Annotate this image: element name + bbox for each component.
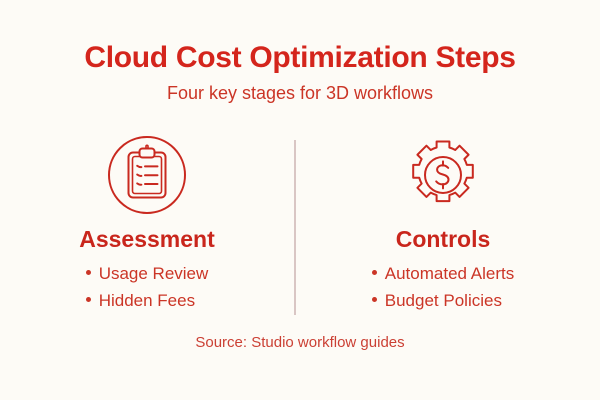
stage-bullets-assessment: Usage Review Hidden Fees — [86, 252, 209, 315]
list-item-label: Automated Alerts — [385, 261, 514, 288]
bullet-dot-icon — [372, 270, 377, 275]
stage-title-controls: Controls — [396, 216, 491, 252]
list-item: Budget Policies — [372, 288, 514, 315]
footer: Source: Studio workflow guides — [0, 334, 600, 352]
list-item: Hidden Fees — [86, 288, 209, 315]
page-subtitle: Four key stages for 3D workflows — [0, 74, 600, 104]
stage-column-assessment: Assessment Usage Review Hidden Fees — [0, 134, 294, 315]
stage-column-controls: Controls Automated Alerts Budget Policie… — [296, 134, 590, 315]
infographic-canvas: Cloud Cost Optimization Steps Four key s… — [0, 0, 600, 400]
page-title: Cloud Cost Optimization Steps — [0, 42, 600, 74]
stage-columns: Assessment Usage Review Hidden Fees — [0, 134, 600, 315]
list-item: Automated Alerts — [372, 261, 514, 288]
list-item: Usage Review — [86, 261, 209, 288]
bullet-dot-icon — [86, 297, 91, 302]
clipboard-checklist-icon — [106, 134, 188, 216]
gear-dollar-icon — [402, 134, 484, 216]
bullet-dot-icon — [86, 270, 91, 275]
list-item-label: Hidden Fees — [99, 288, 195, 315]
list-item-label: Budget Policies — [385, 288, 502, 315]
source-note: Source: Studio workflow guides — [0, 334, 600, 352]
header: Cloud Cost Optimization Steps Four key s… — [0, 42, 600, 104]
list-item-label: Usage Review — [99, 261, 209, 288]
stage-bullets-controls: Automated Alerts Budget Policies — [372, 252, 514, 315]
bullet-dot-icon — [372, 297, 377, 302]
stage-title-assessment: Assessment — [79, 216, 215, 252]
